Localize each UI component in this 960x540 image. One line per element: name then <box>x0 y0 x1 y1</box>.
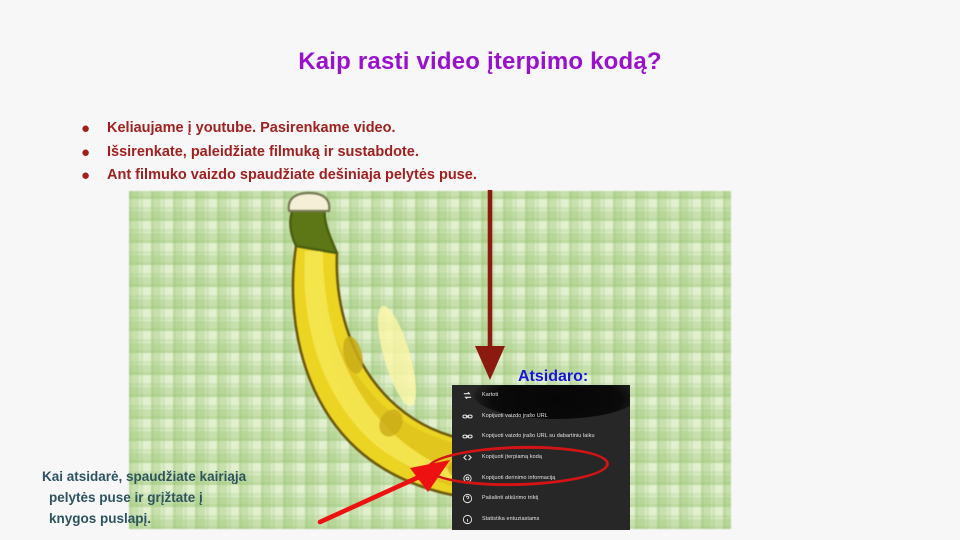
menu-item-copy-debug-info[interactable]: Kopijuoti derinimo informaciją <box>452 468 630 489</box>
menu-item-label: Kopijuoti vaizdo įrašo URL <box>482 413 548 420</box>
stats-icon <box>460 512 475 527</box>
link-time-icon <box>460 429 475 444</box>
menu-item-label: Kopijuoti įterpiamą kodą <box>482 454 542 461</box>
instruction-list: ● Keliaujame į youtube. Pasirenkame vide… <box>78 120 698 191</box>
menu-item-label: Kartoti <box>482 392 498 399</box>
menu-item-label: Statistika entuziastams <box>482 516 539 523</box>
list-item-label: Ant filmuko vaizdo spaudžiate dešiniaja … <box>107 167 477 184</box>
down-arrow-annotation <box>468 186 512 382</box>
menu-item-copy-url-at-time[interactable]: Kopijuoti vaizdo įrašo URL su dabartiniu… <box>452 426 630 447</box>
opens-label: Atsidaro: <box>518 368 588 386</box>
menu-item-label: Kopijuoti derinimo informaciją <box>482 475 555 482</box>
bullet-marker-icon: ● <box>78 167 107 184</box>
help-icon <box>460 491 475 506</box>
bottom-caption: Kai atsidarė, spaudžiate kairiąja pelytė… <box>42 466 332 529</box>
youtube-context-menu[interactable]: Kartoti Kopijuoti vaizdo įrašo URL Kopij… <box>452 385 630 530</box>
menu-item-label: Pašalinti atkūrimo triktį <box>482 495 538 502</box>
loop-icon <box>460 388 475 403</box>
caption-line: knygos puslapį. <box>42 508 332 529</box>
list-item: ● Išsirenkate, paleidžiate filmuką ir su… <box>78 144 698 161</box>
link-icon <box>460 409 475 424</box>
bullet-marker-icon: ● <box>78 144 107 161</box>
page-title: Kaip rasti video įterpimo kodą? <box>0 48 960 76</box>
menu-item-label: Kopijuoti vaizdo įrašo URL su dabartiniu… <box>482 433 595 440</box>
debug-icon <box>460 471 475 486</box>
list-item: ● Ant filmuko vaizdo spaudžiate dešiniaj… <box>78 167 698 184</box>
list-item-label: Keliaujame į youtube. Pasirenkame video. <box>107 120 396 137</box>
menu-item-copy-embed-code[interactable]: Kopijuoti įterpiamą kodą <box>452 447 630 468</box>
menu-item-stats-for-nerds[interactable]: Statistika entuziastams <box>452 509 630 530</box>
caption-line: pelytės puse ir grįžtate į <box>42 487 332 508</box>
caption-line: Kai atsidarė, spaudžiate kairiąja <box>42 466 332 487</box>
list-item: ● Keliaujame į youtube. Pasirenkame vide… <box>78 120 698 137</box>
menu-item-kartoti[interactable]: Kartoti <box>452 385 630 406</box>
list-item-label: Išsirenkate, paleidžiate filmuką ir sust… <box>107 144 419 161</box>
menu-item-troubleshoot[interactable]: Pašalinti atkūrimo triktį <box>452 488 630 509</box>
embed-code-icon <box>460 450 475 465</box>
slide-canvas: Kaip rasti video įterpimo kodą? ● Keliau… <box>0 0 960 540</box>
menu-item-copy-url[interactable]: Kopijuoti vaizdo įrašo URL <box>452 406 630 427</box>
bullet-marker-icon: ● <box>78 120 107 137</box>
